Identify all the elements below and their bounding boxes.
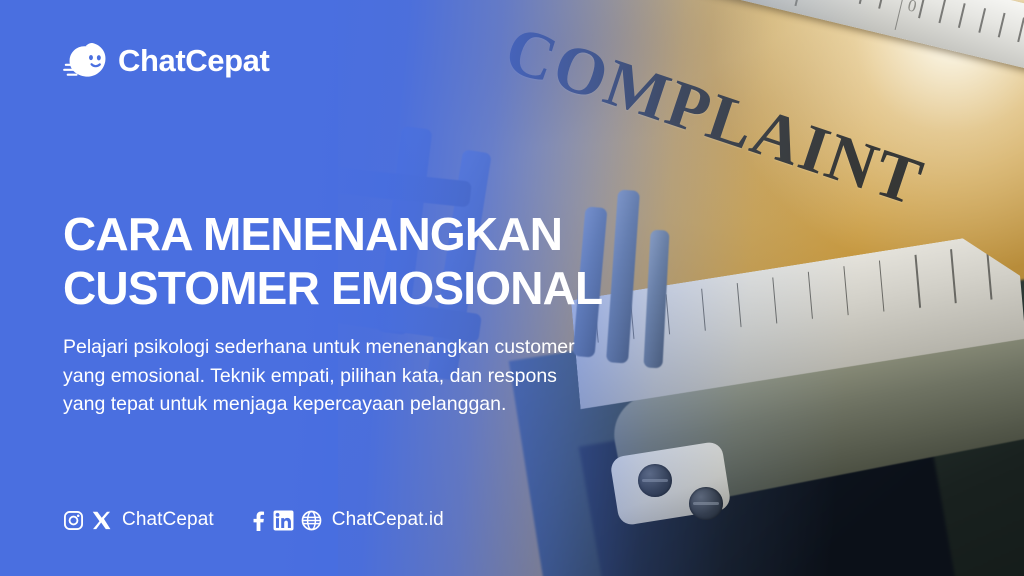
promo-banner: 2030 COMPLAINT ChatCepat <box>0 0 1024 576</box>
social-group-handle[interactable]: ChatCepat <box>63 509 214 531</box>
facebook-icon[interactable] <box>251 510 266 531</box>
subcopy-text: Pelajari psikologi sederhana untuk menen… <box>63 333 593 419</box>
headline-line-1: Cara Menenangkan <box>63 208 562 260</box>
page-title: Cara Menenangkan Customer Emosional <box>63 208 663 316</box>
chat-bubble-smiley-comet-icon <box>63 38 109 84</box>
globe-website-icon[interactable] <box>301 510 322 531</box>
website-handle: ChatCepat.id <box>332 509 444 531</box>
instagram-icon[interactable] <box>63 510 84 531</box>
social-handle: ChatCepat <box>122 509 214 531</box>
x-twitter-icon[interactable] <box>91 510 112 531</box>
footer-social-bar: ChatCepat <box>63 509 444 531</box>
brand-wordmark: ChatCepat <box>118 43 269 79</box>
brand-logo[interactable]: ChatCepat <box>63 38 269 84</box>
linkedin-icon[interactable] <box>273 510 294 531</box>
social-group-website[interactable]: ChatCepat.id <box>251 509 444 531</box>
headline-line-2: Customer Emosional <box>63 262 602 314</box>
banner-content: ChatCepat Cara Menenangkan Customer Emos… <box>0 0 1024 576</box>
